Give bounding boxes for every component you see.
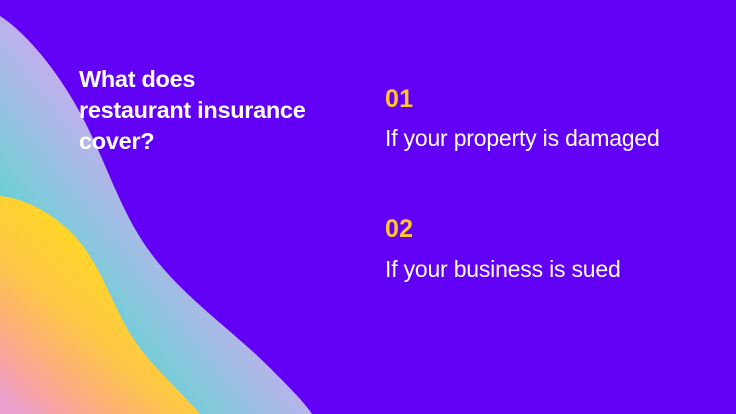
title-line-3: cover? [79, 126, 379, 157]
list-item: 01 If your property is damaged [385, 84, 725, 153]
list-item-number: 01 [385, 84, 725, 114]
list-item-text: If your property is damaged [385, 123, 725, 153]
blob-inner-shape [0, 196, 200, 414]
list-item-text: If your business is sued [385, 254, 725, 284]
title-line-2: restaurant insurance [79, 95, 379, 126]
list-item-number: 02 [385, 214, 725, 244]
blob-blend-overlay [0, 196, 200, 414]
title-line-1: What does [79, 64, 379, 95]
slide-title: What does restaurant insurance cover? [79, 64, 379, 157]
list-item: 02 If your business is sued [385, 214, 725, 284]
numbered-list: 01 If your property is damaged 02 If you… [385, 84, 725, 284]
presentation-slide: What does restaurant insurance cover? 01… [0, 0, 736, 414]
